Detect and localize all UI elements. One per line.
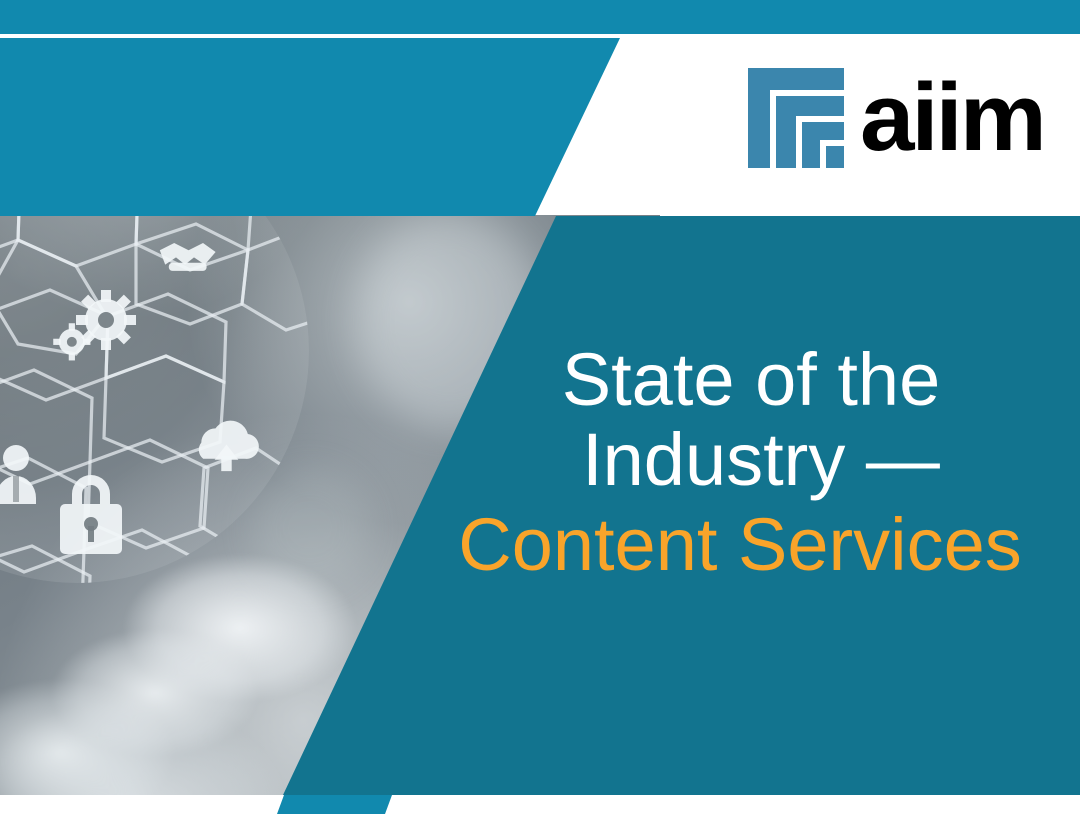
title-line-2: Industry — [430,420,1050,500]
title-slide: aiim State of the Industry — Content Ser… [0,0,1080,814]
title-line-1: State of the [430,340,1050,420]
aiim-wordmark: aiim [860,78,1044,159]
bottom-white-strip [0,795,1080,814]
nested-squares-logo-icon [748,68,844,168]
top-white-rule [0,34,1080,38]
aiim-logo[interactable]: aiim [748,68,1040,168]
title-block: State of the Industry — Content Services [430,340,1050,590]
top-blue-band [0,0,1080,38]
subtitle-line: Content Services [430,500,1050,590]
